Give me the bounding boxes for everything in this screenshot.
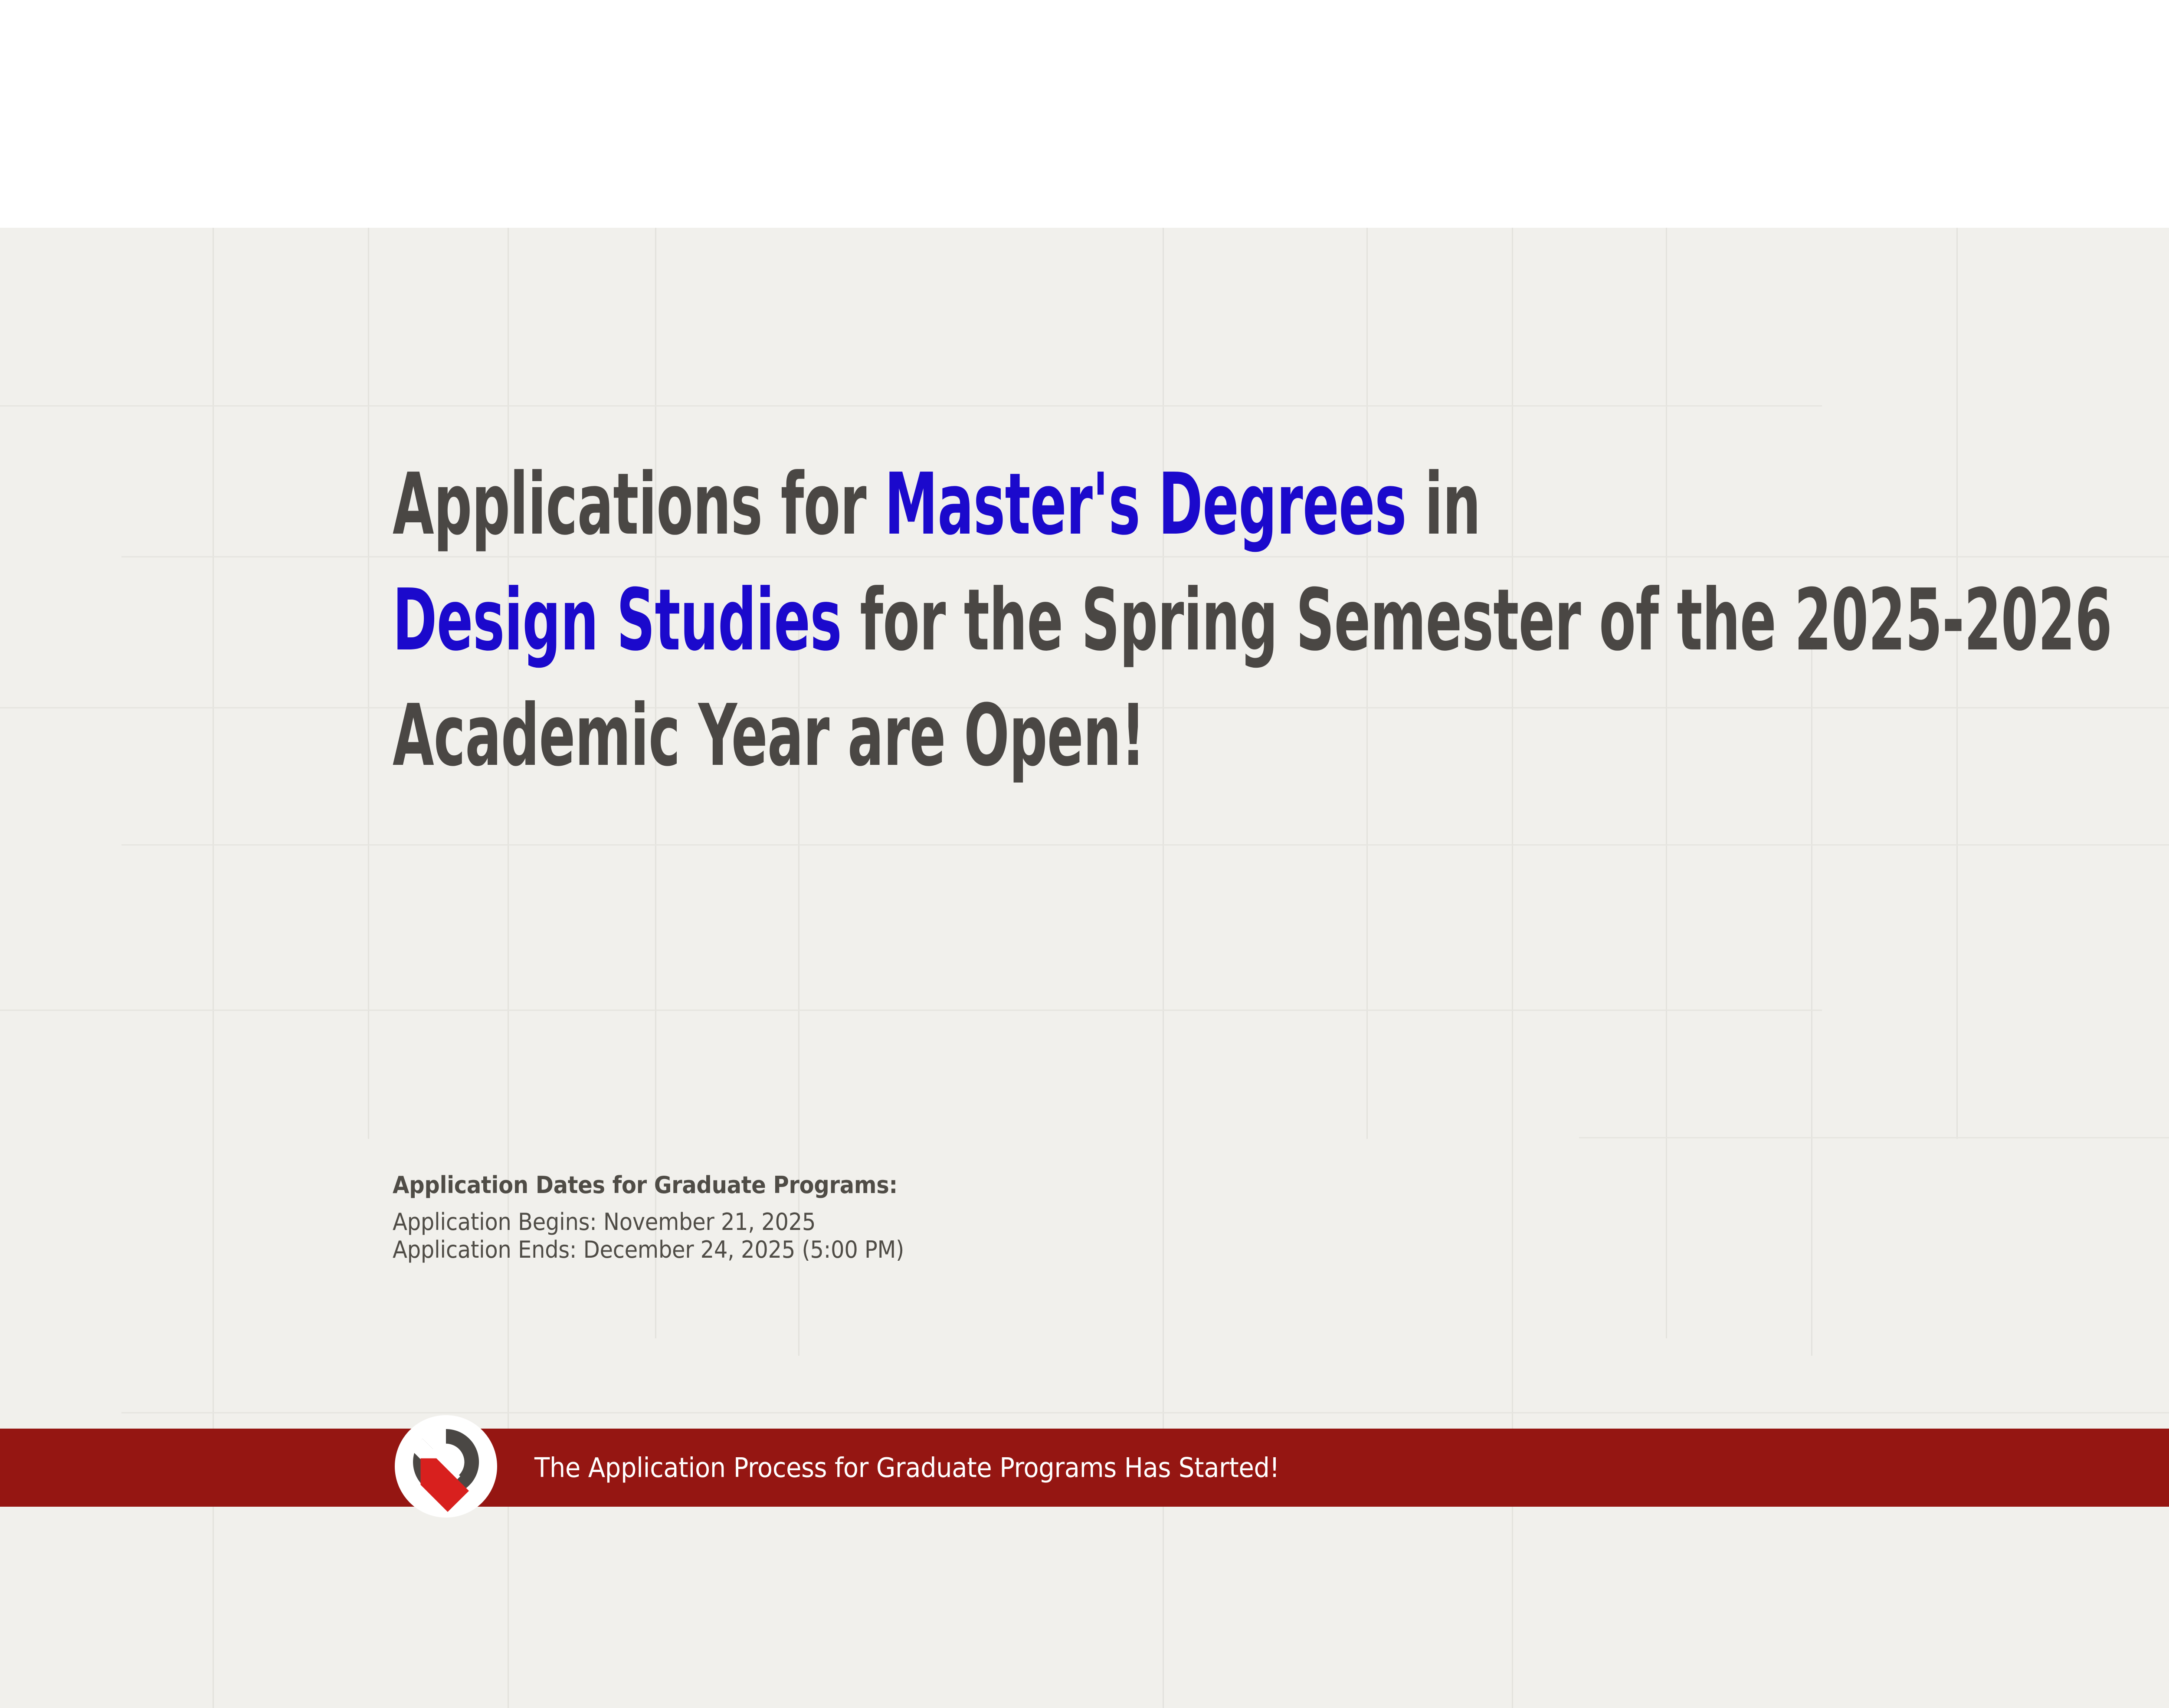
- announcement-banner-inner: The Application Process for Graduate Pro…: [0, 1429, 2169, 1507]
- grid-hline: [0, 1010, 1822, 1011]
- headline-line-3: Academic Year are Open!: [393, 678, 2093, 794]
- application-dates-heading: Application Dates for Graduate Programs:: [393, 1174, 904, 1197]
- grid-hline: [0, 405, 1822, 407]
- location-pin-logo-icon: [392, 1414, 500, 1523]
- page-canvas: Applications for Master's Degrees in Des…: [0, 228, 2169, 1708]
- application-ends-line: Application Ends: December 24, 2025 (5:0…: [393, 1236, 904, 1264]
- headline-line1-pre: Applications for: [393, 455, 885, 554]
- headline-line1-post: in: [1406, 455, 1481, 554]
- headline-line-2: Design Studies for the Spring Semester o…: [393, 563, 2093, 679]
- grid-hline: [1579, 1137, 2169, 1138]
- grid-vline: [368, 228, 369, 1139]
- headline-accent-masters-degrees: Master's Degrees: [885, 455, 1406, 554]
- grid-hline: [121, 844, 2169, 846]
- top-white-strip: [0, 0, 2169, 228]
- grid-hline: [121, 1412, 2169, 1413]
- announcement-banner-text: The Application Process for Graduate Pro…: [534, 1452, 1279, 1484]
- announcement-banner: The Application Process for Graduate Pro…: [0, 1429, 2169, 1507]
- headline-line-1: Applications for Master's Degrees in: [393, 447, 2093, 563]
- application-dates-block: Application Dates for Graduate Programs:…: [393, 1174, 904, 1263]
- headline-line2-post: for the Spring Semester of the 2025-2026: [842, 571, 2112, 670]
- headline-accent-design-studies: Design Studies: [393, 571, 842, 670]
- application-begins-line: Application Begins: November 21, 2025: [393, 1208, 904, 1236]
- page-headline: Applications for Master's Degrees in Des…: [393, 447, 2093, 794]
